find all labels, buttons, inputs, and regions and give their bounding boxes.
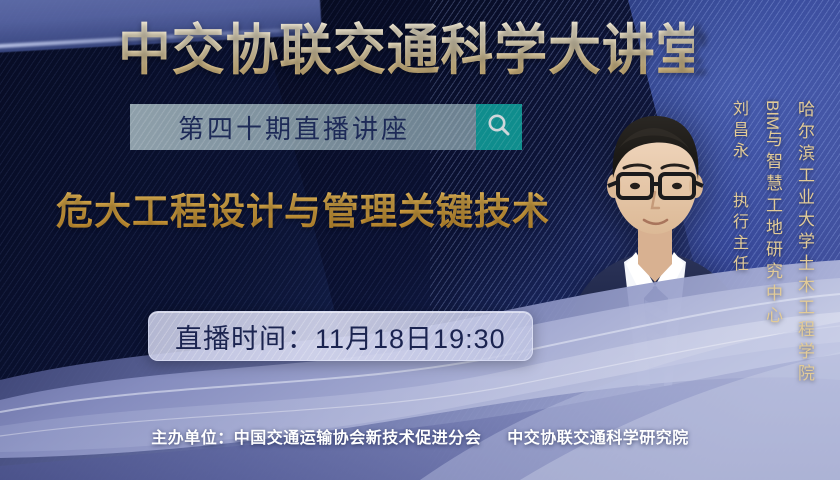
search-icon: [486, 112, 512, 143]
page-title: 中交协联交通科学大讲堂: [118, 18, 694, 82]
speaker-research-center-rest: 与智慧工地研究中心: [763, 130, 782, 328]
footer-prefix: 主办单位：: [151, 430, 234, 447]
speaker-school: 哈尔滨工业大学土木工程学院: [792, 100, 817, 386]
episode-label: 第四十期直播讲座: [178, 109, 428, 146]
broadcast-time-text: 直播时间：11月18日19:30: [175, 317, 506, 356]
search-button[interactable]: [476, 104, 522, 150]
footer-organizers: 主办单位：中国交通运输协会新技术促进分会中交协联交通科学研究院: [0, 424, 840, 448]
lecture-topic: 危大工程设计与管理关键技术: [56, 186, 576, 238]
poster-canvas: 中交协联交通科学大讲堂 第四十期直播讲座 危大工程设计与管理关键技术 直播时间：…: [0, 0, 840, 480]
subtitle-bar: 第四十期直播讲座: [130, 104, 522, 150]
subtitle-plate: 第四十期直播讲座: [130, 104, 476, 150]
broadcast-time-badge: 直播时间：11月18日19:30: [148, 311, 533, 361]
footer-org-1: 中国交通运输协会新技术促进分会: [234, 430, 482, 447]
speaker-role: 执行主任: [726, 192, 750, 276]
speaker-name: 刘昌永: [726, 100, 750, 163]
footer-org-2: 中交协联交通科学研究院: [507, 430, 689, 447]
speaker-research-center: BIM与智慧工地研究中心: [760, 100, 787, 328]
speaker-research-center-latin: BIM: [763, 100, 782, 130]
